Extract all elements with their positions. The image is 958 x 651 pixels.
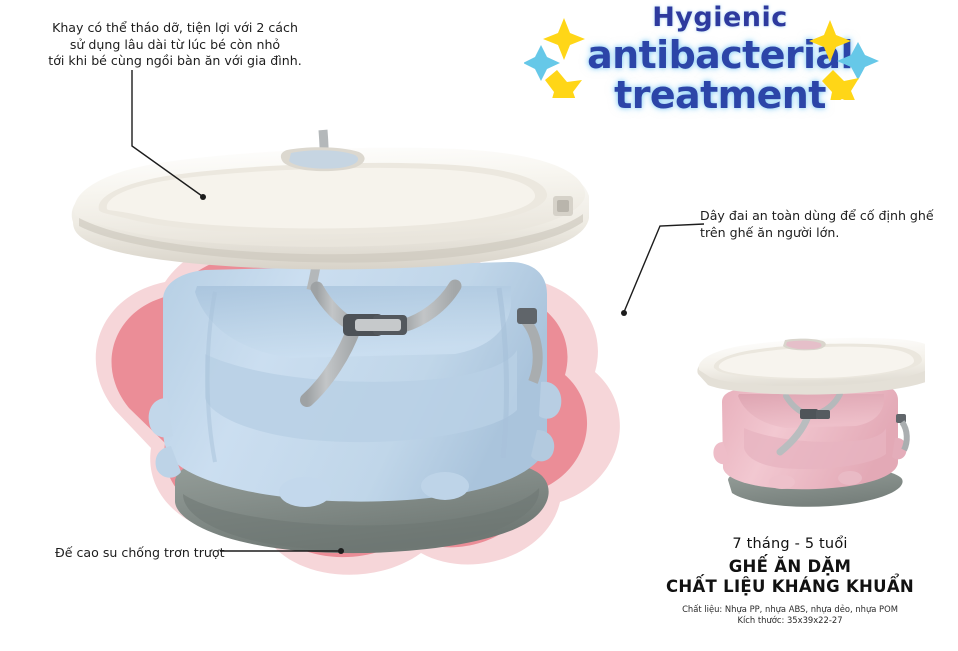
- leader-line-belt: [608, 208, 708, 328]
- star-cluster-right: [806, 14, 884, 100]
- star-yellow-five-point-icon: [822, 70, 859, 100]
- product-material: Chất liệu: Nhựa PP, nhựa ABS, nhựa dẻo, …: [640, 604, 940, 615]
- star-cluster-left: [524, 14, 598, 98]
- annotation-base-text: Đế cao su chống trơn trượt: [55, 545, 235, 562]
- annotation-belt-text: Dây đai an toàn dùng để cố định ghế trên…: [700, 208, 950, 241]
- product-info-block: 7 tháng - 5 tuổi GHẾ ĂN DẶM CHẤT LIỆU KH…: [640, 536, 940, 626]
- star-cyan-four-point-icon: [837, 42, 879, 80]
- product-dimensions: Kích thước: 35x39x22-27: [640, 615, 940, 626]
- product-age-range: 7 tháng - 5 tuổi: [640, 536, 940, 552]
- product-title-line1: GHẾ ĂN DẶM: [640, 557, 940, 577]
- thumb-pink-body: [713, 386, 906, 489]
- product-title-line2: CHẤT LIỆU KHÁNG KHUẨN: [640, 577, 940, 597]
- star-yellow-four-point-icon: [809, 20, 851, 62]
- product-infographic-page: Hygienic antibacterial treatment Khay có…: [0, 0, 958, 651]
- star-yellow-four-point-icon: [543, 18, 585, 60]
- leader-line-tray: [128, 68, 218, 213]
- thumb-tray: [697, 338, 925, 395]
- star-yellow-five-point-icon: [545, 70, 582, 98]
- annotation-tray-text: Khay có thể tháo dỡ, tiện lợi với 2 cách…: [30, 20, 320, 70]
- leader-line-base: [218, 543, 348, 559]
- pink-chair-thumbnail: [690, 330, 925, 525]
- blue-seat-body: [149, 262, 562, 507]
